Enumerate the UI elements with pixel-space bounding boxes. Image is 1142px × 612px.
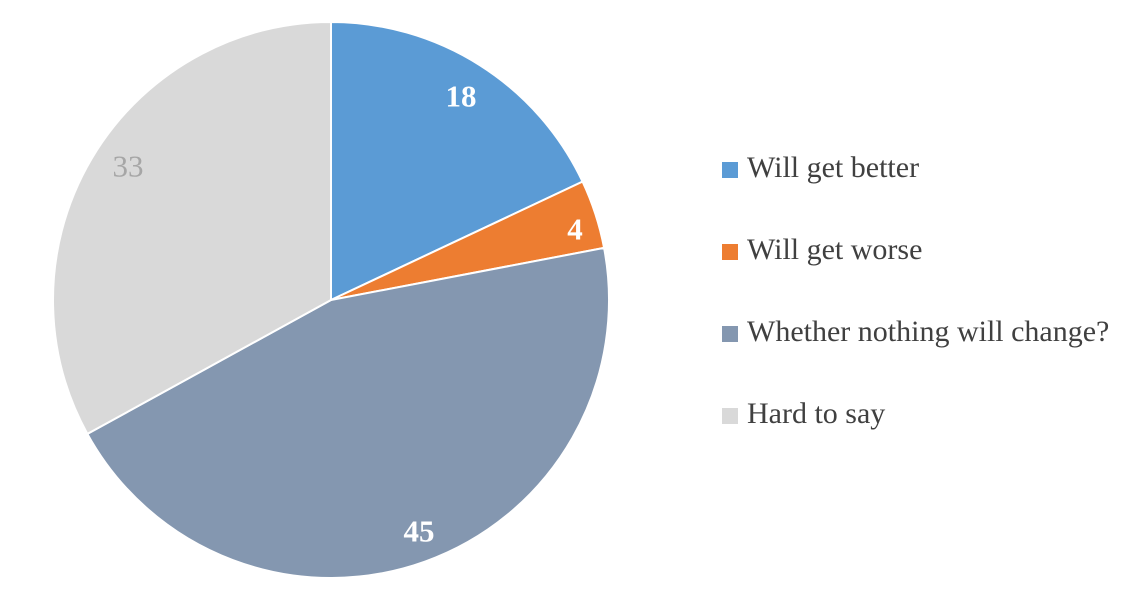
legend-item-label: Will get better xyxy=(747,150,919,186)
legend-color-swatch-icon xyxy=(722,326,738,342)
pie-slice-value-label: 4 xyxy=(567,214,583,245)
legend-item-label: Whether nothing will change? xyxy=(747,314,1109,350)
legend-item[interactable]: Will get better xyxy=(722,150,1122,232)
legend-item-label: Hard to say xyxy=(747,396,885,432)
pie-chart-figure: 1844533 Will get betterWill get worseWhe… xyxy=(0,0,1142,612)
pie-slice-value-label: 45 xyxy=(404,516,435,547)
legend-color-swatch-icon xyxy=(722,408,738,424)
legend-item[interactable]: Whether nothing will change? xyxy=(722,314,1122,396)
chart-legend: Will get betterWill get worseWhether not… xyxy=(722,150,1122,478)
legend-item[interactable]: Hard to say xyxy=(722,396,1122,478)
pie-slice-group xyxy=(53,22,609,578)
legend-color-swatch-icon xyxy=(722,162,738,178)
pie-slice-value-label: 18 xyxy=(446,81,477,112)
legend-item[interactable]: Will get worse xyxy=(722,232,1122,314)
legend-item-label: Will get worse xyxy=(747,232,922,268)
pie-slice-value-label: 33 xyxy=(113,151,144,182)
legend-color-swatch-icon xyxy=(722,244,738,260)
